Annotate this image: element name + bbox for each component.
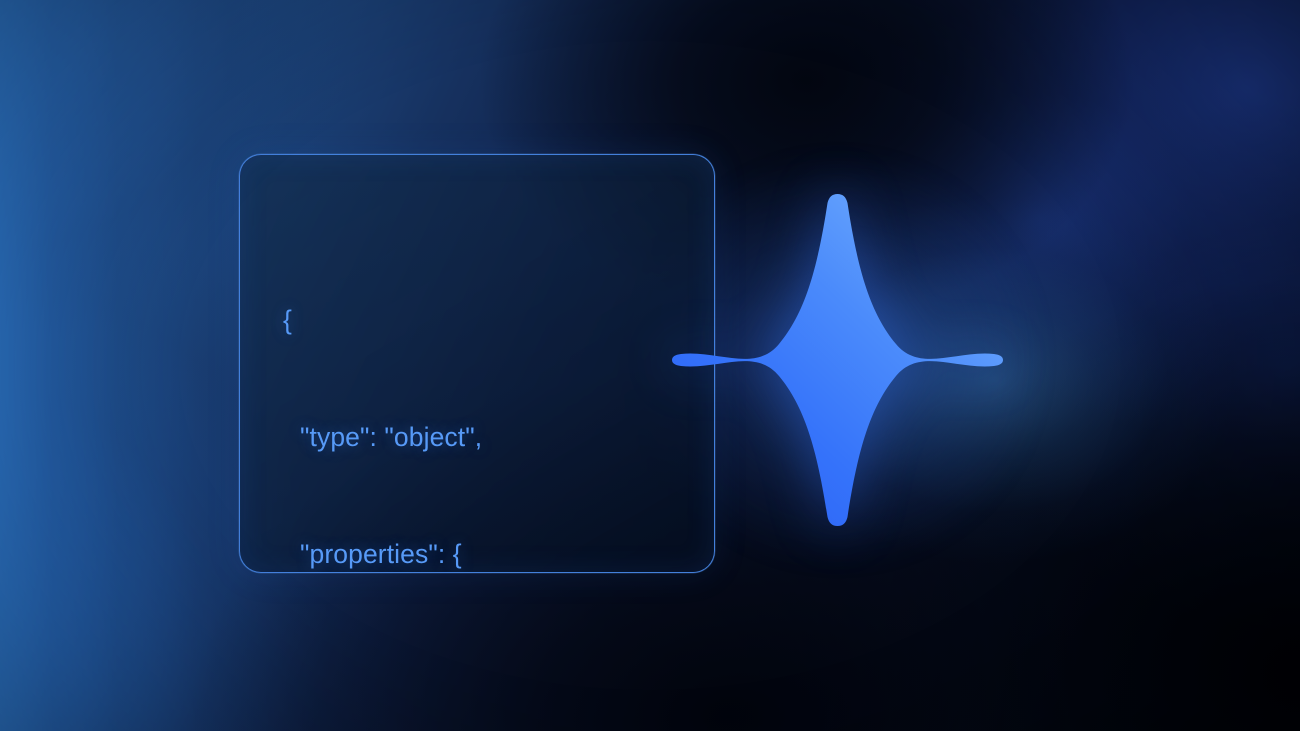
illustration-scene: { "type": "object", "properties": { "nam… xyxy=(0,0,1300,731)
code-line-2: "type": "object", xyxy=(283,418,683,457)
four-point-sparkle-icon xyxy=(672,194,1003,526)
json-schema-code-block: { "type": "object", "properties": { "nam… xyxy=(283,223,683,573)
json-schema-code-card: { "type": "object", "properties": { "nam… xyxy=(239,154,715,573)
code-line-1: { xyxy=(283,301,683,340)
code-line-3: "properties": { xyxy=(283,535,683,573)
